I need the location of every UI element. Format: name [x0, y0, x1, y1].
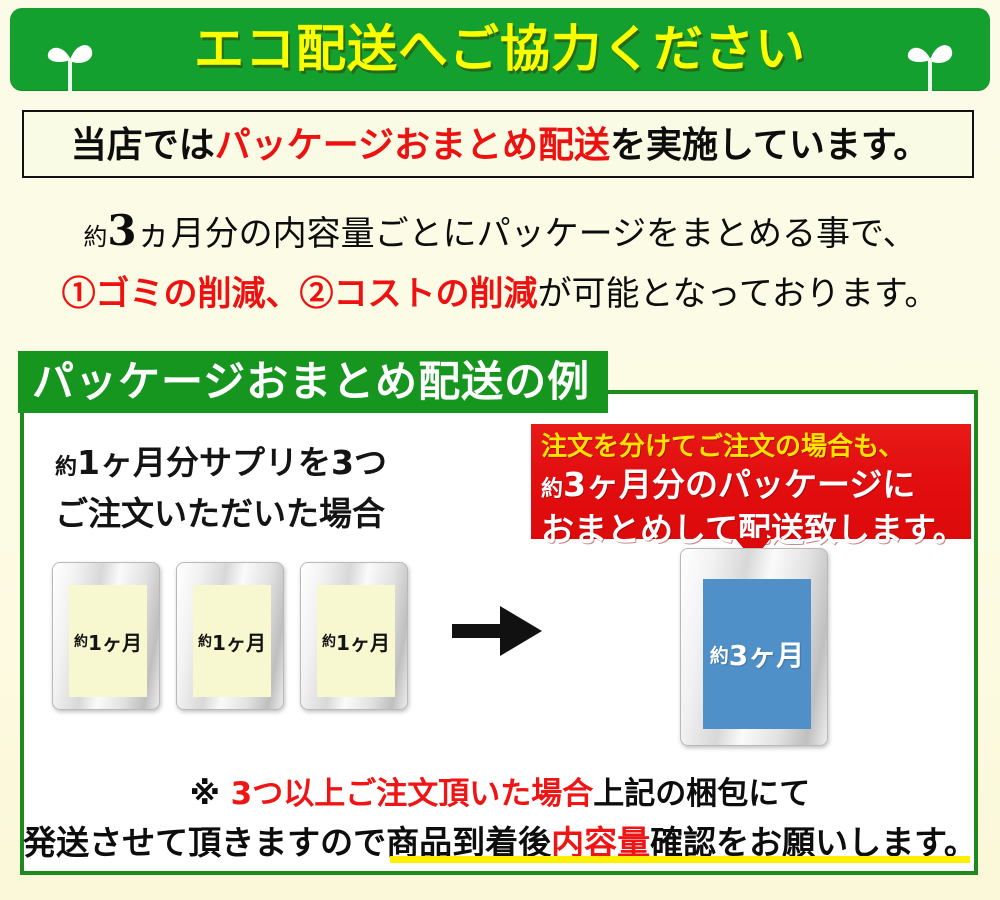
package-label: 約1ヶ月 — [69, 585, 147, 697]
left-caption-line-1-rest: 1ヶ月分サプリを3つ — [77, 443, 387, 482]
page-title: エコ配送へご協力ください — [10, 12, 990, 86]
package-label-yaku: 約 — [74, 631, 88, 651]
red-callout-box: 注文を分けてご注文の場合も、 約3ヶ月分のパッケージに おまとめして配送致します… — [531, 424, 971, 539]
package-label: 約1ヶ月 — [193, 585, 271, 697]
statement-text: 当店ではパッケージおまとめ配送を実施しています。 — [24, 112, 976, 180]
paragraph-line-1-rest: ヵ月分の内容量ごとにパッケージをまとめる事で、 — [137, 214, 917, 254]
yellow-underline — [390, 856, 970, 863]
package-pouch-small: 約1ヶ月 — [52, 562, 160, 710]
package-label-yaku: 約 — [710, 641, 729, 668]
note-line-1: ※ 3つ以上ご注文頂いた場合上記の梱包にて — [0, 768, 1000, 813]
left-caption-yaku: 約 — [55, 455, 77, 480]
red-callout-line-2-rest: 3ヶ月分のパッケージに — [563, 465, 915, 504]
package-label-yaku: 約 — [198, 631, 212, 651]
paragraph-benefits: ①ゴミの削減、②コストの削減 — [62, 274, 538, 314]
package-label: 約1ヶ月 — [317, 585, 395, 697]
package-label-yaku: 約 — [322, 631, 336, 651]
left-caption-line-1: 約1ヶ月分サプリを3つ — [55, 440, 495, 491]
package-pouch-small: 約1ヶ月 — [176, 562, 284, 710]
note-mark: ※ — [190, 776, 231, 812]
red-callout-line-1: 注文を分けてご注文の場合も、 — [541, 430, 971, 465]
header: エコ配送へご協力ください — [10, 8, 990, 100]
paragraph-line-2-rest: が可能となっております。 — [538, 274, 939, 314]
package-label-text: 1ヶ月 — [336, 627, 390, 656]
package-pouch-large: 約3ヶ月 — [680, 548, 828, 746]
banner-page: エコ配送へご協力ください 当店ではパッケージおまとめ配送を実施しています。 約3… — [0, 0, 1000, 900]
left-caption-line-2: ご注文いただいた場合 — [55, 491, 495, 537]
note-line-1-rest: 上記の梱包にて — [593, 776, 810, 812]
left-caption: 約1ヶ月分サプリを3つ ご注文いただいた場合 — [55, 440, 495, 537]
red-callout-yaku: 約 — [541, 477, 563, 502]
package-label-text: 1ヶ月 — [88, 627, 142, 656]
package-pouch-small: 約1ヶ月 — [300, 562, 408, 710]
statement-suffix: を実施しています。 — [610, 124, 929, 166]
package-label-text: 3ヶ月 — [729, 634, 804, 674]
red-callout-line-2: 約3ヶ月分のパッケージに — [541, 465, 971, 510]
arrow-right-icon — [452, 600, 544, 662]
paragraph-number: 3 — [107, 206, 136, 255]
package-label-text: 1ヶ月 — [212, 627, 266, 656]
paragraph-line-2: ①ゴミの削減、②コストの削減が可能となっております。 — [0, 266, 1000, 315]
statement-box: 当店ではパッケージおまとめ配送を実施しています。 — [22, 110, 974, 178]
statement-highlight: パッケージおまとめ配送 — [215, 124, 610, 166]
statement-prefix: 当店では — [71, 124, 215, 166]
note-line-1-highlight: 3つ以上ご注文頂いた場合 — [231, 776, 594, 812]
paragraph-yaku: 約 — [83, 223, 107, 251]
example-section-header: パッケージおまとめ配送の例 — [18, 351, 608, 413]
paragraph-line-1: 約3ヵ月分の内容量ごとにパッケージをまとめる事で、 — [0, 206, 1000, 255]
package-label: 約3ヶ月 — [703, 579, 811, 729]
